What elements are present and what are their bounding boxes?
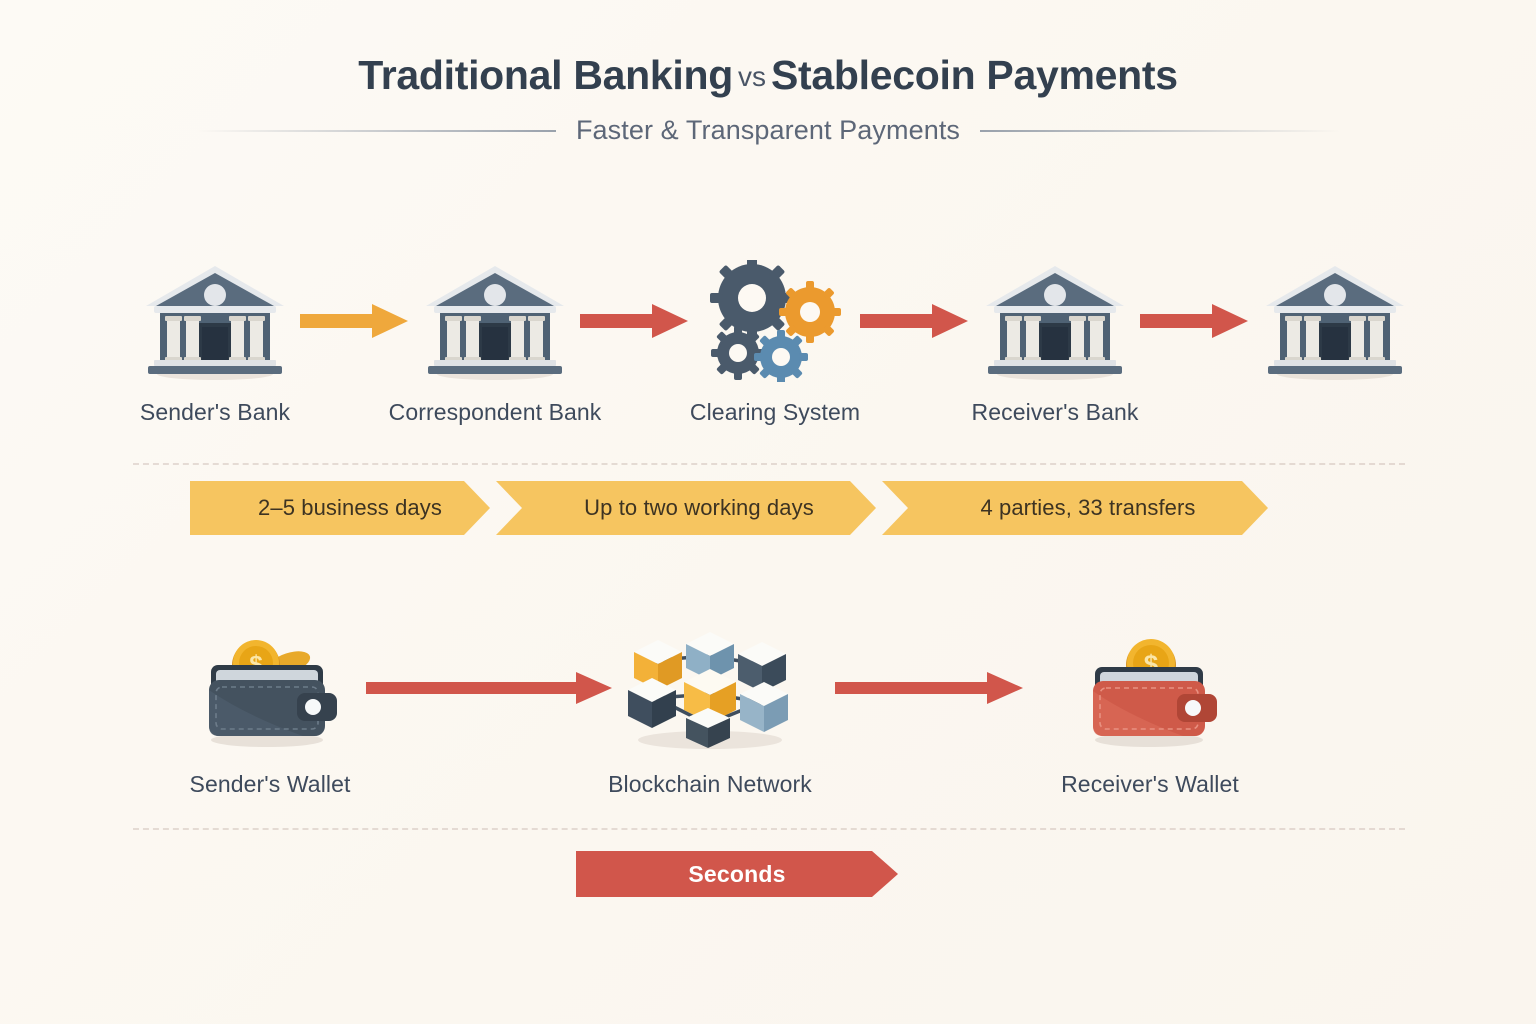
arrow-wallet-to-blockchain [360,620,620,755]
node-clearing-system[interactable]: Clearing System [700,258,850,426]
title-vs: vs [733,61,771,92]
node-label: Receiver's Wallet [1061,771,1239,798]
infographic-canvas: Traditional BankingvsStablecoin Payments… [0,0,1536,1024]
subtitle-rule-left [196,130,556,132]
header: Traditional BankingvsStablecoin Payments… [0,52,1536,146]
node-correspondent-bank[interactable]: Correspondent Bank [420,258,570,426]
wallet-icon: $ [185,620,355,755]
node-label: Clearing System [690,399,860,426]
divider-bottom [133,828,1405,830]
node-label: Sender's Wallet [190,771,351,798]
banking-metrics-strip: 2–5 business days Up to two working days… [190,481,1268,535]
node-senders-wallet[interactable]: $ Sender's Wallet [180,620,360,798]
divider-top [133,463,1405,465]
page-title: Traditional BankingvsStablecoin Payments [0,52,1536,99]
node-receivers-wallet[interactable]: $ Receiver's Wallet [1060,620,1240,798]
gears-icon [700,258,850,383]
subtitle-row: Faster & Transparent Payments [0,115,1536,146]
page-subtitle: Faster & Transparent Payments [576,115,960,146]
node-label: Correspondent Bank [389,399,602,426]
bank-icon [140,258,290,383]
traditional-banking-flow: Sender's Bank [140,258,1410,426]
node-label: Blockchain Network [608,771,812,798]
arrow-blockchain-to-wallet [800,620,1060,755]
title-part-stablecoin: Stablecoin Payments [771,52,1178,98]
wallet-icon: $ [1065,620,1235,755]
subtitle-rule-right [980,130,1340,132]
title-part-traditional: Traditional Banking [358,52,733,98]
node-label: Sender's Bank [140,399,290,426]
node-final-bank[interactable] [1260,258,1410,399]
badge-seconds: Seconds [576,851,898,897]
stablecoin-flow: $ Sender's Wallet [180,620,1360,798]
node-receivers-bank[interactable]: Receiver's Bank [980,258,1130,426]
node-label: Receiver's Bank [972,399,1139,426]
arrow-clearing-to-receiver [850,258,980,383]
node-senders-bank[interactable]: Sender's Bank [140,258,290,426]
blockchain-network-icon [610,620,810,755]
bank-icon [420,258,570,383]
bank-icon [1260,258,1410,383]
badge-business-days: 2–5 business days [190,481,490,535]
badge-parties-transfers: 4 parties, 33 transfers [882,481,1268,535]
node-blockchain-network[interactable]: Blockchain Network [620,620,800,798]
badge-working-days: Up to two working days [496,481,876,535]
bank-icon [980,258,1130,383]
arrow-receiver-to-final [1130,258,1260,383]
arrow-sender-to-correspondent [290,258,420,383]
arrow-correspondent-to-clearing [570,258,700,383]
